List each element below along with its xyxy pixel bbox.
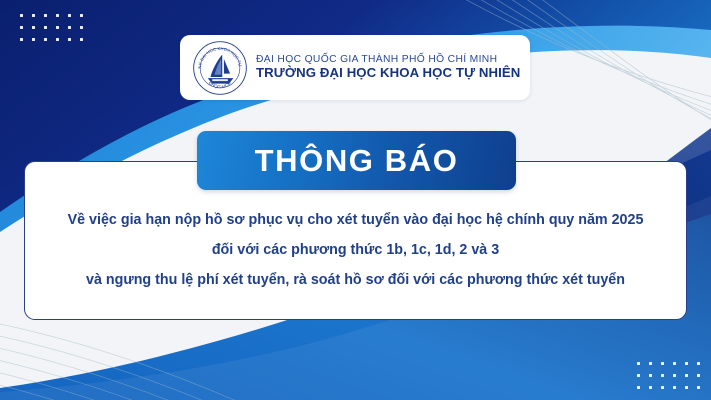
dot-grid-top-left-icon <box>20 14 92 50</box>
university-seal-icon: TRƯỜNG ĐẠI HỌC KHOA HỌC TỰ NHIÊN ĐHQG-HC… <box>192 40 248 96</box>
notice-body-line-3: và ngưng thu lệ phí xét tuyển, rà soát h… <box>24 265 687 295</box>
notice-body: Về việc gia hạn nộp hồ sơ phục vụ cho xé… <box>24 205 687 295</box>
notice-body-line-2: đối với các phương thức 1b, 1c, 1d, 2 và… <box>24 235 687 265</box>
university-name-block: ĐẠI HỌC QUỐC GIA THÀNH PHỐ HỒ CHÍ MINH T… <box>256 54 520 80</box>
notice-body-line-1: Về việc gia hạn nộp hồ sơ phục vụ cho xé… <box>24 205 687 235</box>
notice-banner: THÔNG BÁO <box>197 131 516 190</box>
university-logo-card: TRƯỜNG ĐẠI HỌC KHOA HỌC TỰ NHIÊN ĐHQG-HC… <box>180 35 530 100</box>
notice-poster: TRƯỜNG ĐẠI HỌC KHOA HỌC TỰ NHIÊN ĐHQG-HC… <box>0 0 711 400</box>
university-name: TRƯỜNG ĐẠI HỌC KHOA HỌC TỰ NHIÊN <box>256 66 520 81</box>
dot-grid-bottom-right-icon <box>637 362 709 398</box>
notice-banner-title: THÔNG BÁO <box>255 143 459 179</box>
